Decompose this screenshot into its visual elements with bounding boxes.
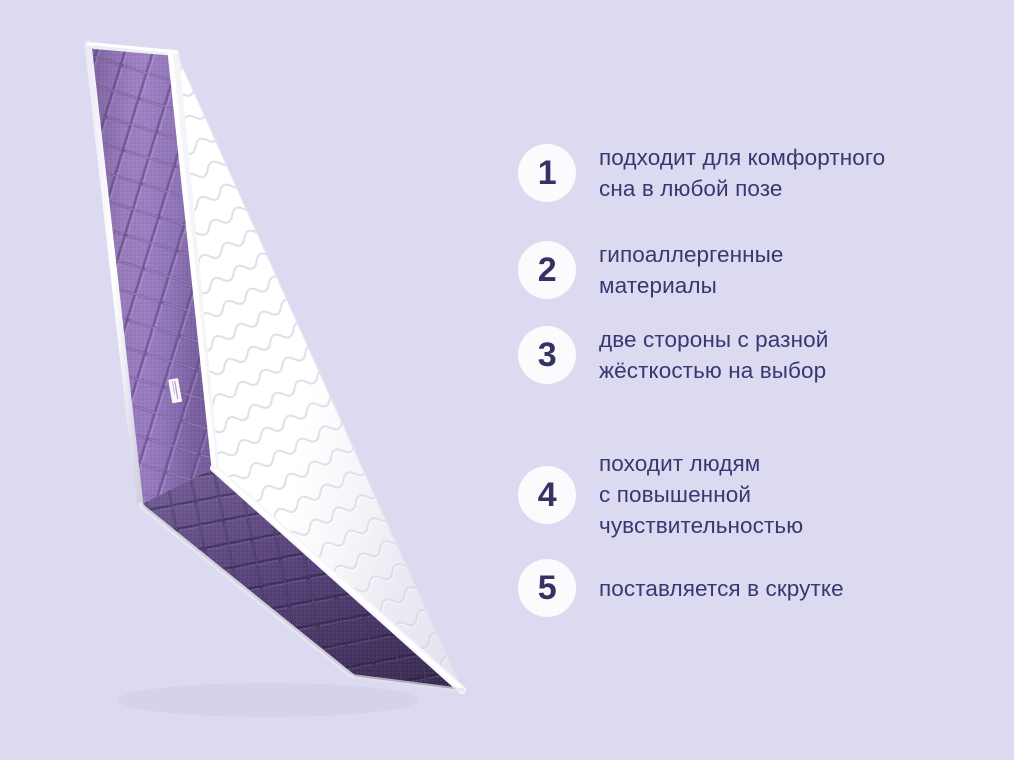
feature-text-1: подходит для комфортного сна в любой поз… (599, 142, 885, 204)
feature-text-3: две стороны с разной жёсткостью на выбор (599, 324, 828, 386)
feature-number-badge-4: 4 (518, 466, 576, 524)
mattress-shadow (118, 683, 418, 717)
feature-text-5: поставляется в скрутке (599, 573, 844, 604)
feature-item-2: 2 гипоаллергенные материалы (518, 239, 988, 301)
feature-number-badge-5: 5 (518, 559, 576, 617)
mattress-illustration (0, 0, 500, 760)
feature-number-badge-3: 3 (518, 326, 576, 384)
feature-item-1: 1 подходит для комфортного сна в любой п… (518, 142, 988, 204)
product-image (0, 0, 500, 760)
feature-text-4: походит людям с повышенной чувствительно… (599, 448, 803, 541)
product-feature-banner: 1 подходит для комфортного сна в любой п… (0, 0, 1014, 760)
feature-item-4: 4 походит людям с повышенной чувствитель… (518, 448, 988, 541)
feature-number-badge-1: 1 (518, 144, 576, 202)
feature-text-2: гипоаллергенные материалы (599, 239, 784, 301)
feature-item-5: 5 поставляется в скрутке (518, 559, 988, 617)
feature-item-3: 3 две стороны с разной жёсткостью на выб… (518, 324, 988, 386)
feature-number-badge-2: 2 (518, 241, 576, 299)
